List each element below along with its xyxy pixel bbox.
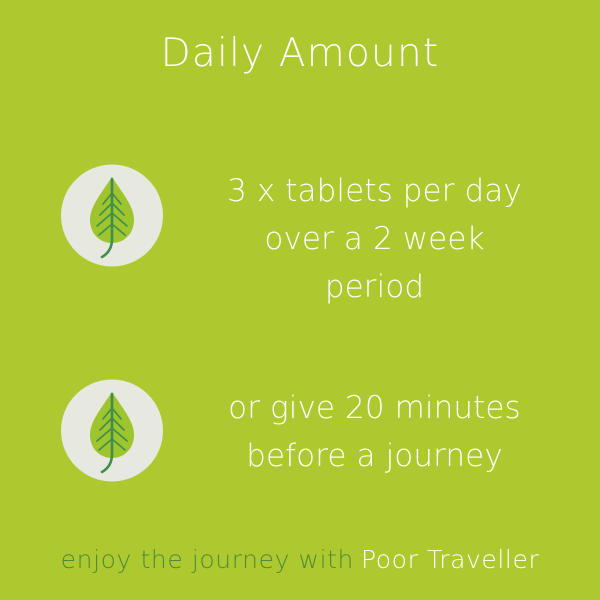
info-row: 3 x tablets per day over a 2 week period: [0, 163, 600, 268]
poster-canvas: Daily Amount 3 x tablets per day over a …: [0, 0, 600, 600]
info-row-text: or give 20 minutes before a journey: [163, 384, 600, 480]
info-row: or give 20 minutes before a journey: [0, 378, 600, 483]
leaf-icon: [61, 163, 163, 268]
brand-name: Poor Traveller: [361, 545, 539, 574]
icon-column: [0, 163, 163, 268]
icon-column: [0, 378, 163, 483]
info-line: or give 20 minutes: [163, 384, 586, 432]
info-line: period: [163, 263, 586, 311]
info-line: 3 x tablets per day: [163, 167, 586, 215]
page-title: Daily Amount: [0, 28, 600, 80]
info-line: over a 2 week: [163, 215, 586, 263]
footer: enjoy the journey withPoor Traveller: [0, 543, 600, 577]
info-line: before a journey: [163, 432, 586, 480]
info-row-text: 3 x tablets per day over a 2 week period: [163, 167, 600, 311]
footer-tagline: enjoy the journey with: [61, 545, 354, 574]
leaf-icon: [61, 378, 163, 483]
